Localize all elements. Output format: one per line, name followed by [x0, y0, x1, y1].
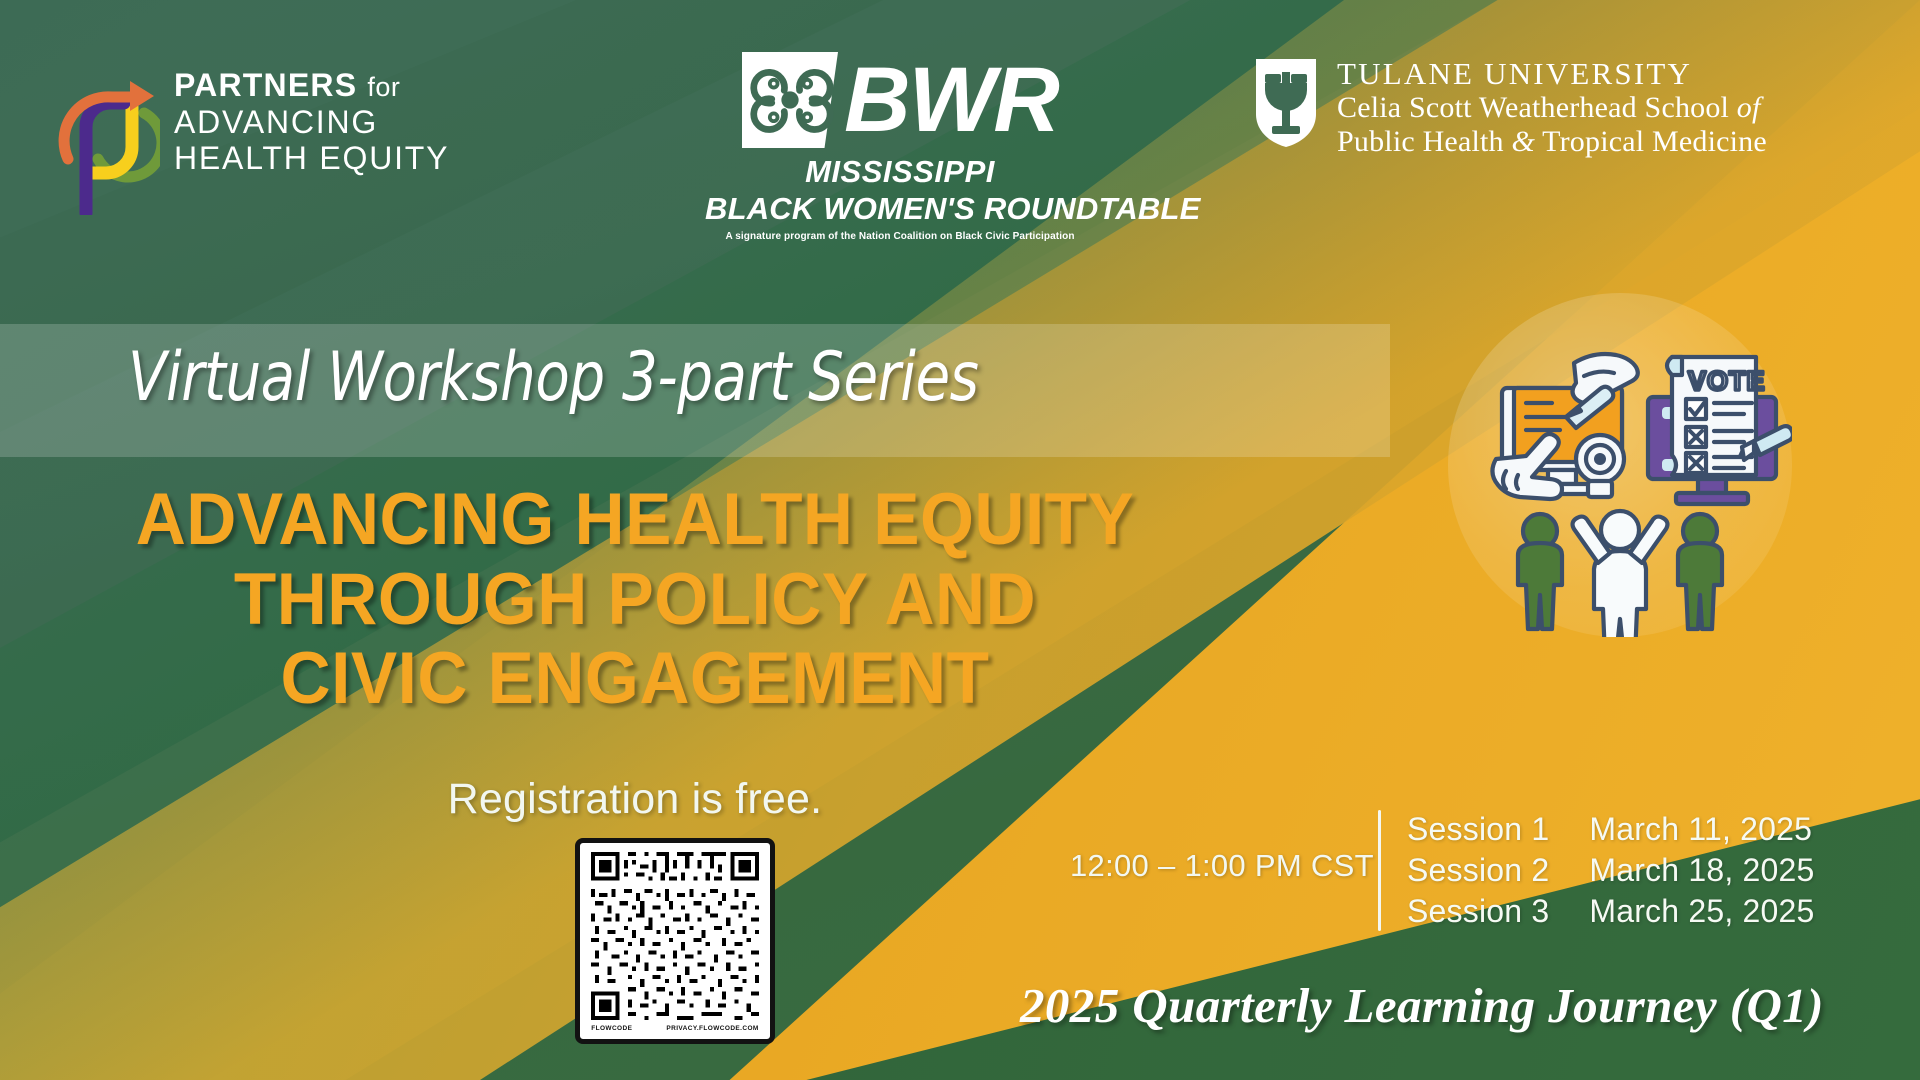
pahe-line1-bold: PARTNERS: [174, 67, 357, 103]
headline-line-3: CIVIC ENGAGEMENT: [32, 639, 1239, 719]
headline: ADVANCING HEALTH EQUITY THROUGH POLICY A…: [32, 480, 1239, 719]
session-schedule: Session 1 March 11, 2025 Session 2 March…: [1378, 810, 1815, 931]
logo-row: PARTNERS for ADVANCING HEALTH EQUITY: [0, 0, 1920, 250]
logo-bwr: BWR MISSISSIPPI BLACK WOMEN'S ROUNDTABLE…: [705, 52, 1095, 242]
tulane-line3-a: Public Health: [1337, 125, 1511, 158]
tulane-line3-ampersand: &: [1511, 125, 1535, 158]
session-label: Session 1: [1407, 810, 1549, 849]
logo-partners-advancing-health-equity: PARTNERS for ADVANCING HEALTH EQUITY: [52, 55, 449, 215]
tulane-shield-icon: [1253, 56, 1319, 150]
partners-arrow-p-icon: [52, 55, 160, 215]
quarterly-tagline: 2025 Quarterly Learning Journey (Q1): [1020, 977, 1824, 1034]
bwr-line3: BLACK WOMEN'S ROUNDTABLE: [705, 191, 1095, 227]
tulane-line3-b: Tropical Medicine: [1535, 125, 1767, 158]
tulane-line1: TULANE UNIVERSITY: [1337, 56, 1767, 91]
session-date: March 25, 2025: [1589, 892, 1814, 931]
civic-engagement-illustration: VOTE: [1448, 293, 1792, 637]
session-label: Session 2: [1407, 851, 1549, 890]
logo-tulane: TULANE UNIVERSITY Celia Scott Weatherhea…: [1253, 56, 1767, 159]
registration-note: Registration is free.: [0, 775, 1270, 824]
poster-canvas: PARTNERS for ADVANCING HEALTH EQUITY: [0, 0, 1920, 1080]
session-label: Session 3: [1407, 892, 1549, 931]
bwr-line4: A signature program of the Nation Coalit…: [705, 231, 1095, 242]
qr-code-matrix[interactable]: [589, 852, 761, 1020]
tulane-line2-of: of: [1737, 91, 1761, 124]
session-divider-rule: [1378, 810, 1381, 931]
headline-line-2: THROUGH POLICY AND: [32, 560, 1239, 640]
session-date: March 11, 2025: [1589, 810, 1814, 849]
bwr-quatrefoil-icon: [742, 52, 838, 148]
session-list: Session 1 March 11, 2025 Session 2 March…: [1407, 810, 1815, 931]
workshop-kicker: Virtual Workshop 3-part Series: [128, 338, 979, 417]
qr-code[interactable]: FLOWCODE PRIVACY.FLOWCODE.COM: [575, 838, 775, 1044]
qr-code-caption: FLOWCODE PRIVACY.FLOWCODE.COM: [589, 1020, 761, 1036]
session-time: 12:00 – 1:00 PM CST: [1070, 848, 1374, 884]
qr-privacy-label: PRIVACY.FLOWCODE.COM: [666, 1025, 758, 1032]
qr-brand-label: FLOWCODE: [591, 1025, 632, 1032]
tulane-line2-a: Celia Scott Weatherhead School: [1337, 91, 1737, 124]
pahe-line2: ADVANCING: [174, 106, 449, 139]
pahe-line3: HEALTH EQUITY: [174, 142, 449, 175]
session-date: March 18, 2025: [1589, 851, 1814, 890]
headline-line-1: ADVANCING HEALTH EQUITY: [32, 480, 1239, 560]
people-group-icon: [1518, 511, 1722, 637]
illustration-artwork: VOTE: [1448, 293, 1792, 637]
bwr-line2: MISSISSIPPI: [705, 154, 1095, 190]
pahe-line1-thin: for: [367, 72, 400, 102]
vote-ballot-text: VOTE: [1688, 366, 1766, 396]
bwr-acronym: BWR: [844, 58, 1058, 143]
